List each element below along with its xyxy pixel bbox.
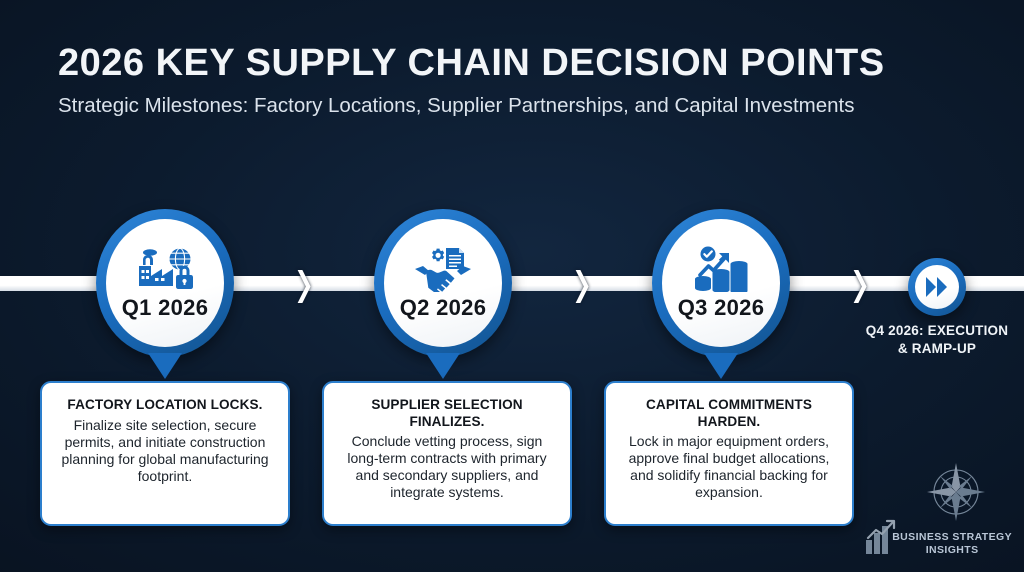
milestone-node-q1[interactable]: Q1 2026: [96, 209, 234, 357]
chevron-right-icon: ❭: [846, 266, 872, 302]
brand-name-line2: INSIGHTS: [892, 544, 1012, 558]
card-body-q3: Lock in major equipment orders, approve …: [617, 433, 841, 501]
milestone-pointer-q1: [148, 353, 182, 379]
milestone-node-q4[interactable]: [908, 258, 966, 316]
milestone-pointer-q2: [426, 353, 460, 379]
milestone-label-q1: Q1 2026: [122, 295, 209, 321]
card-body-q2: Conclude vetting process, sign long-term…: [335, 433, 559, 501]
header: 2026 KEY SUPPLY CHAIN DECISION POINTS St…: [58, 44, 998, 118]
milestone-node-q3[interactable]: Q3 2026: [652, 209, 790, 357]
milestone-inner-q2: Q2 2026: [384, 219, 502, 347]
milestone-inner-q1: Q1 2026: [106, 219, 224, 347]
milestone-ring-q3: Q3 2026: [652, 209, 790, 357]
card-title-q3: CAPITAL COMMITMENTS HARDEN.: [617, 397, 841, 430]
milestone-pointer-q3: [704, 353, 738, 379]
brand-name: BUSINESS STRATEGY INSIGHTS: [892, 531, 1012, 558]
milestone-ring-q1: Q1 2026: [96, 209, 234, 357]
double-chevron-play-icon: [922, 275, 952, 299]
handshake-contract-gear-icon: [413, 246, 473, 292]
milestone-inner-q4: [915, 265, 959, 309]
page-title: 2026 KEY SUPPLY CHAIN DECISION POINTS: [58, 44, 998, 84]
milestone-ring-q4: [908, 258, 966, 316]
factory-globe-lock-icon: [134, 246, 196, 292]
chevron-right-icon: ❭: [568, 266, 594, 302]
chevron-right-icon: ❭: [290, 266, 316, 302]
card-title-q1: FACTORY LOCATION LOCKS.: [53, 397, 277, 414]
bar-chart-arrow-icon: [866, 521, 894, 554]
milestone-card-q1[interactable]: FACTORY LOCATION LOCKS. Finalize site se…: [40, 381, 290, 526]
page-subtitle: Strategic Milestones: Factory Locations,…: [58, 94, 998, 118]
brand-name-line1: BUSINESS STRATEGY: [892, 531, 1012, 545]
coins-growth-arrow-check-icon: [691, 246, 751, 292]
milestone-card-q2[interactable]: SUPPLIER SELECTION FINALIZES. Conclude v…: [322, 381, 572, 526]
card-title-q2: SUPPLIER SELECTION FINALIZES.: [335, 397, 559, 430]
milestone-inner-q3: Q3 2026: [662, 219, 780, 347]
milestone-card-q3[interactable]: CAPITAL COMMITMENTS HARDEN. Lock in majo…: [604, 381, 854, 526]
milestone-ring-q2: Q2 2026: [374, 209, 512, 357]
milestone-label-q2: Q2 2026: [400, 295, 487, 321]
compass-rose-icon: [927, 463, 985, 521]
milestone-caption-q4: Q4 2026: EXECUTION & RAMP-UP: [864, 322, 1010, 358]
milestone-label-q3: Q3 2026: [678, 295, 765, 321]
card-body-q1: Finalize site selection, secure permits,…: [53, 417, 277, 485]
milestone-node-q2[interactable]: Q2 2026: [374, 209, 512, 357]
